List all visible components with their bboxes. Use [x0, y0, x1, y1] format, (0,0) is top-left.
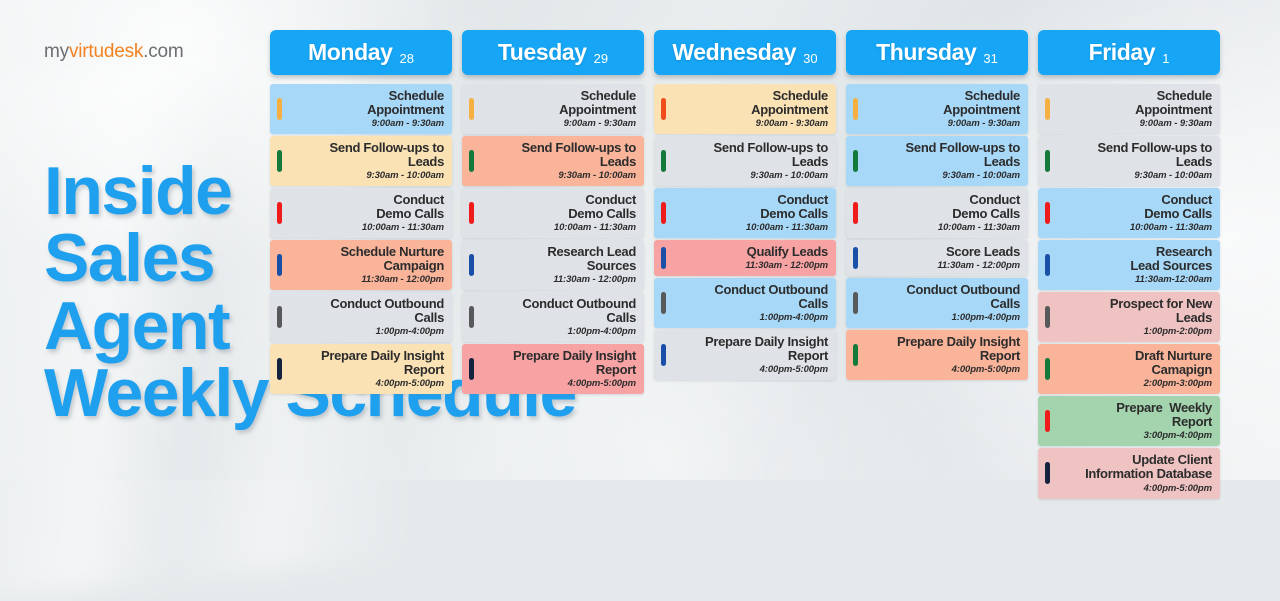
task-color-bar-icon [1045, 150, 1050, 172]
task-title: Conduct Demo Calls [1060, 193, 1212, 221]
task-title: Schedule Appointment [1060, 89, 1212, 117]
task-color-bar-icon [661, 344, 666, 366]
day-name-label: Tuesday [498, 39, 587, 66]
task-color-bar-icon [1045, 410, 1050, 432]
task-time: 10:00am - 11:30am [868, 222, 1020, 233]
task-card[interactable]: Prepare Daily Insight Report4:00pm-5:00p… [270, 344, 452, 394]
task-time: 4:00pm-5:00pm [868, 364, 1020, 375]
task-card[interactable]: Send Follow-ups to Leads9:30am - 10:00am [462, 136, 644, 186]
task-title: Send Follow-ups to Leads [868, 141, 1020, 169]
task-list: Schedule Appointment9:00am - 9:30amSend … [654, 84, 836, 380]
task-time: 9:00am - 9:30am [868, 118, 1020, 129]
day-date-number: 29 [594, 51, 608, 66]
task-card[interactable]: Schedule Appointment9:00am - 9:30am [1038, 84, 1220, 134]
day-column-wednesday: Wednesday30Schedule Appointment9:00am - … [654, 30, 836, 380]
day-name-label: Thursday [876, 39, 976, 66]
task-time: 9:30am - 10:00am [484, 170, 636, 181]
task-card[interactable]: Send Follow-ups to Leads9:30am - 10:00am [270, 136, 452, 186]
task-time: 4:00pm-5:00pm [292, 378, 444, 389]
task-color-bar-icon [1045, 306, 1050, 328]
day-header-tuesday[interactable]: Tuesday29 [462, 30, 644, 75]
task-color-bar-icon [277, 202, 282, 224]
task-time: 9:00am - 9:30am [484, 118, 636, 129]
task-time: 9:30am - 10:00am [868, 170, 1020, 181]
day-date-number: 28 [400, 51, 414, 66]
task-card[interactable]: Conduct Demo Calls10:00am - 11:30am [846, 188, 1028, 238]
brand-middle: virtudesk [69, 41, 143, 62]
task-card[interactable]: Conduct Outbound Calls1:00pm-4:00pm [462, 292, 644, 342]
task-time: 11:30am - 12:00pm [676, 260, 828, 271]
task-time: 3:00pm-4:00pm [1060, 430, 1212, 441]
task-card[interactable]: Prepare Daily Insight Report4:00pm-5:00p… [654, 330, 836, 380]
task-card[interactable]: Prepare Daily Insight Report4:00pm-5:00p… [462, 344, 644, 394]
task-title: Schedule Appointment [292, 89, 444, 117]
task-color-bar-icon [469, 306, 474, 328]
task-title: Send Follow-ups to Leads [292, 141, 444, 169]
task-card[interactable]: Conduct Demo Calls10:00am - 11:30am [1038, 188, 1220, 238]
task-title: Prepare Daily Insight Report [676, 335, 828, 363]
task-color-bar-icon [469, 150, 474, 172]
task-time: 1:00pm-2:00pm [1060, 326, 1212, 337]
task-time: 9:30am - 10:00am [676, 170, 828, 181]
task-list: Schedule Appointment9:00am - 9:30amSend … [462, 84, 644, 394]
task-title: Schedule Appointment [484, 89, 636, 117]
task-list: Schedule Appointment9:00am - 9:30amSend … [846, 84, 1028, 380]
task-title: Research Lead Sources [1060, 245, 1212, 273]
task-title: Conduct Outbound Calls [484, 297, 636, 325]
task-title: Schedule Nurture Campaign [292, 245, 444, 273]
day-column-thursday: Thursday31Schedule Appointment9:00am - 9… [846, 30, 1028, 380]
brand-prefix: my [44, 41, 69, 62]
task-color-bar-icon [661, 98, 666, 120]
task-time: 1:00pm-4:00pm [292, 326, 444, 337]
task-color-bar-icon [277, 254, 282, 276]
day-header-wednesday[interactable]: Wednesday30 [654, 30, 836, 75]
task-time: 4:00pm-5:00pm [1060, 483, 1212, 494]
task-color-bar-icon [469, 254, 474, 276]
task-title: Conduct Demo Calls [868, 193, 1020, 221]
task-title: Conduct Demo Calls [292, 193, 444, 221]
task-time: 10:00am - 11:30am [292, 222, 444, 233]
task-title: Prepare Daily Insight Report [484, 349, 636, 377]
task-color-bar-icon [853, 344, 858, 366]
task-card[interactable]: Prepare Weekly Report3:00pm-4:00pm [1038, 396, 1220, 446]
task-time: 2:00pm-3:00pm [1060, 378, 1212, 389]
day-name-label: Monday [308, 39, 393, 66]
task-card[interactable]: Qualify Leads11:30am - 12:00pm [654, 240, 836, 276]
task-card[interactable]: Score Leads11:30am - 12:00pm [846, 240, 1028, 276]
task-card[interactable]: Schedule Nurture Campaign11:30am - 12:00… [270, 240, 452, 290]
day-header-thursday[interactable]: Thursday31 [846, 30, 1028, 75]
task-color-bar-icon [469, 202, 474, 224]
task-time: 9:30am - 10:00am [292, 170, 444, 181]
task-color-bar-icon [661, 150, 666, 172]
task-color-bar-icon [853, 292, 858, 314]
day-name-label: Wednesday [672, 39, 796, 66]
task-time: 10:00am - 11:30am [484, 222, 636, 233]
task-color-bar-icon [661, 247, 666, 269]
task-title: Prepare Weekly Report [1060, 401, 1212, 429]
task-title: Send Follow-ups to Leads [676, 141, 828, 169]
task-color-bar-icon [469, 98, 474, 120]
task-time: 1:00pm-4:00pm [676, 312, 828, 323]
task-color-bar-icon [277, 98, 282, 120]
day-header-friday[interactable]: Friday1 [1038, 30, 1220, 75]
task-color-bar-icon [277, 306, 282, 328]
task-card[interactable]: Schedule Appointment9:00am - 9:30am [846, 84, 1028, 134]
task-time: 4:00pm-5:00pm [676, 364, 828, 375]
task-color-bar-icon [1045, 202, 1050, 224]
task-card[interactable]: Research Lead Sources11:30am-12:00am [1038, 240, 1220, 290]
task-color-bar-icon [853, 150, 858, 172]
task-time: 9:00am - 9:30am [292, 118, 444, 129]
task-color-bar-icon [853, 98, 858, 120]
task-title: Prospect for New Leads [1060, 297, 1212, 325]
task-time: 11:30am - 12:00pm [484, 274, 636, 285]
task-color-bar-icon [853, 247, 858, 269]
task-card[interactable]: Send Follow-ups to Leads9:30am - 10:00am [654, 136, 836, 186]
task-list: Schedule Appointment9:00am - 9:30amSend … [1038, 84, 1220, 499]
task-color-bar-icon [1045, 254, 1050, 276]
task-card[interactable]: Send Follow-ups to Leads9:30am - 10:00am [1038, 136, 1220, 186]
day-column-monday: Monday28Schedule Appointment9:00am - 9:3… [270, 30, 452, 394]
task-time: 11:30am - 12:00pm [868, 260, 1020, 271]
task-title: Prepare Daily Insight Report [292, 349, 444, 377]
task-color-bar-icon [277, 358, 282, 380]
task-title: Conduct Outbound Calls [292, 297, 444, 325]
task-card[interactable]: Conduct Demo Calls10:00am - 11:30am [270, 188, 452, 238]
brand-logo: myvirtudesk.com [44, 41, 184, 63]
task-title: Send Follow-ups to Leads [484, 141, 636, 169]
task-title: Draft Nurture Camapign [1060, 349, 1212, 377]
task-time: 11:30am - 12:00pm [292, 274, 444, 285]
task-time: 10:00am - 11:30am [676, 222, 828, 233]
task-title: Schedule Appointment [868, 89, 1020, 117]
task-card[interactable]: Schedule Appointment9:00am - 9:30am [462, 84, 644, 134]
day-date-number: 1 [1162, 51, 1169, 66]
task-title: Research Lead Sources [484, 245, 636, 273]
task-time: 11:30am-12:00am [1060, 274, 1212, 285]
task-card[interactable]: Conduct Outbound Calls1:00pm-4:00pm [846, 278, 1028, 328]
task-title: Conduct Demo Calls [676, 193, 828, 221]
task-color-bar-icon [1045, 358, 1050, 380]
task-title: Schedule Appointment [676, 89, 828, 117]
task-color-bar-icon [277, 150, 282, 172]
day-date-number: 31 [983, 51, 997, 66]
task-card[interactable]: Prepare Daily Insight Report4:00pm-5:00p… [846, 330, 1028, 380]
task-title: Conduct Outbound Calls [868, 283, 1020, 311]
task-card[interactable]: Send Follow-ups to Leads9:30am - 10:00am [846, 136, 1028, 186]
task-color-bar-icon [469, 358, 474, 380]
task-title: Prepare Daily Insight Report [868, 335, 1020, 363]
day-name-label: Friday [1089, 39, 1156, 66]
task-card[interactable]: Research Lead Sources11:30am - 12:00pm [462, 240, 644, 290]
task-color-bar-icon [661, 292, 666, 314]
day-column-tuesday: Tuesday29Schedule Appointment9:00am - 9:… [462, 30, 644, 394]
task-card[interactable]: Schedule Appointment9:00am - 9:30am [654, 84, 836, 134]
task-card[interactable]: Schedule Appointment9:00am - 9:30am [270, 84, 452, 134]
task-title: Score Leads [868, 245, 1020, 259]
task-time: 1:00pm-4:00pm [868, 312, 1020, 323]
task-time: 9:00am - 9:30am [1060, 118, 1212, 129]
task-time: 4:00pm-5:00pm [484, 378, 636, 389]
day-column-friday: Friday1Schedule Appointment9:00am - 9:30… [1038, 30, 1220, 499]
task-title: Conduct Outbound Calls [676, 283, 828, 311]
task-time: 9:00am - 9:30am [676, 118, 828, 129]
weekly-schedule-grid: Monday28Schedule Appointment9:00am - 9:3… [270, 30, 1270, 499]
task-color-bar-icon [1045, 98, 1050, 120]
task-title: Conduct Demo Calls [484, 193, 636, 221]
task-color-bar-icon [853, 202, 858, 224]
task-color-bar-icon [661, 202, 666, 224]
day-date-number: 30 [803, 51, 817, 66]
task-time: 10:00am - 11:30am [1060, 222, 1212, 233]
task-title: Qualify Leads [676, 245, 828, 259]
task-card[interactable]: Conduct Demo Calls10:00am - 11:30am [462, 188, 644, 238]
task-time: 1:00pm-4:00pm [484, 326, 636, 337]
task-title: Send Follow-ups to Leads [1060, 141, 1212, 169]
brand-suffix: .com [143, 41, 183, 62]
task-time: 9:30am - 10:00am [1060, 170, 1212, 181]
day-header-monday[interactable]: Monday28 [270, 30, 452, 75]
task-title: Update Client Information Database [1060, 453, 1212, 481]
task-list: Schedule Appointment9:00am - 9:30amSend … [270, 84, 452, 394]
task-color-bar-icon [1045, 462, 1050, 484]
task-card[interactable]: Conduct Demo Calls10:00am - 11:30am [654, 188, 836, 238]
task-card[interactable]: Prospect for New Leads1:00pm-2:00pm [1038, 292, 1220, 342]
task-card[interactable]: Draft Nurture Camapign2:00pm-3:00pm [1038, 344, 1220, 394]
task-card[interactable]: Update Client Information Database4:00pm… [1038, 448, 1220, 498]
task-card[interactable]: Conduct Outbound Calls1:00pm-4:00pm [654, 278, 836, 328]
task-card[interactable]: Conduct Outbound Calls1:00pm-4:00pm [270, 292, 452, 342]
